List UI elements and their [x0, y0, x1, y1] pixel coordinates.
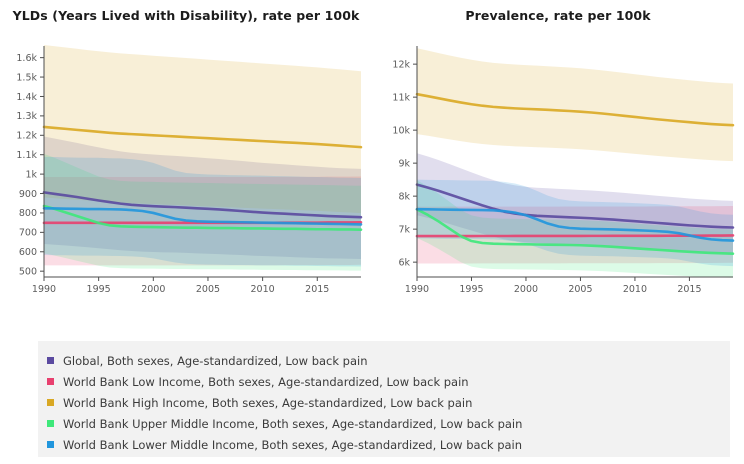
legend-swatch-icon: [47, 399, 54, 406]
legend-item-label: World Bank Low Income, Both sexes, Age-s…: [63, 375, 469, 389]
svg-text:8k: 8k: [398, 191, 410, 202]
charts-row: YLDs (Years Lived with Disability), rate…: [0, 0, 744, 320]
svg-text:12k: 12k: [392, 59, 410, 70]
svg-text:1k: 1k: [25, 169, 37, 180]
svg-text:2010: 2010: [623, 284, 647, 295]
svg-text:11k: 11k: [392, 92, 410, 103]
legend-swatch-icon: [47, 357, 54, 364]
legend-list: Global, Both sexes, Age-standardized, Lo…: [38, 341, 730, 455]
svg-text:7k: 7k: [398, 224, 410, 235]
plot-prevalence: 6k7k8k9k10k11k12k19901995200020052010201…: [372, 0, 744, 320]
legend-swatch-icon: [47, 441, 54, 448]
legend-item[interactable]: World Bank Upper Middle Income, Both sex…: [38, 413, 730, 434]
legend-item[interactable]: World Bank Low Income, Both sexes, Age-s…: [38, 371, 730, 392]
svg-text:2000: 2000: [514, 284, 538, 295]
legend-item-label: World Bank Upper Middle Income, Both sex…: [63, 417, 522, 431]
legend-item-label: World Bank Lower Middle Income, Both sex…: [63, 438, 522, 452]
svg-text:2005: 2005: [568, 284, 592, 295]
svg-text:700: 700: [19, 228, 37, 239]
legend-item-label: World Bank High Income, Both sexes, Age-…: [63, 396, 472, 410]
svg-text:1.6k: 1.6k: [16, 53, 37, 64]
svg-text:1995: 1995: [459, 284, 483, 295]
legend-item[interactable]: Global, Both sexes, Age-standardized, Lo…: [38, 350, 730, 371]
svg-text:500: 500: [19, 266, 37, 277]
svg-text:9k: 9k: [398, 158, 410, 169]
chart-panel-ylds: YLDs (Years Lived with Disability), rate…: [0, 0, 372, 320]
svg-text:1990: 1990: [405, 284, 429, 295]
svg-text:1995: 1995: [87, 284, 111, 295]
legend-item[interactable]: World Bank High Income, Both sexes, Age-…: [38, 392, 730, 413]
svg-text:1.4k: 1.4k: [16, 92, 37, 103]
svg-text:2015: 2015: [677, 284, 701, 295]
svg-text:2010: 2010: [251, 284, 275, 295]
legend-item[interactable]: World Bank Lower Middle Income, Both sex…: [38, 434, 730, 455]
chart-panel-prevalence: Prevalence, rate per 100k 6k7k8k9k10k11k…: [372, 0, 744, 320]
legend-swatch-icon: [47, 378, 54, 385]
svg-text:1990: 1990: [32, 284, 56, 295]
legend-swatch-icon: [47, 420, 54, 427]
svg-text:1.2k: 1.2k: [16, 131, 37, 142]
svg-text:800: 800: [19, 208, 37, 219]
legend-item-label: Global, Both sexes, Age-standardized, Lo…: [63, 354, 368, 368]
svg-text:2015: 2015: [305, 284, 329, 295]
svg-text:1.5k: 1.5k: [16, 72, 37, 83]
svg-text:1.3k: 1.3k: [16, 111, 37, 122]
svg-text:10k: 10k: [392, 125, 410, 136]
svg-text:1.1k: 1.1k: [16, 150, 37, 161]
plot-ylds: 5006007008009001k1.1k1.2k1.3k1.4k1.5k1.6…: [0, 0, 372, 320]
svg-text:900: 900: [19, 189, 37, 200]
svg-text:2005: 2005: [196, 284, 220, 295]
svg-text:2000: 2000: [141, 284, 165, 295]
chart-legend: Global, Both sexes, Age-standardized, Lo…: [38, 341, 730, 457]
svg-text:6k: 6k: [398, 257, 410, 268]
svg-text:600: 600: [19, 247, 37, 258]
